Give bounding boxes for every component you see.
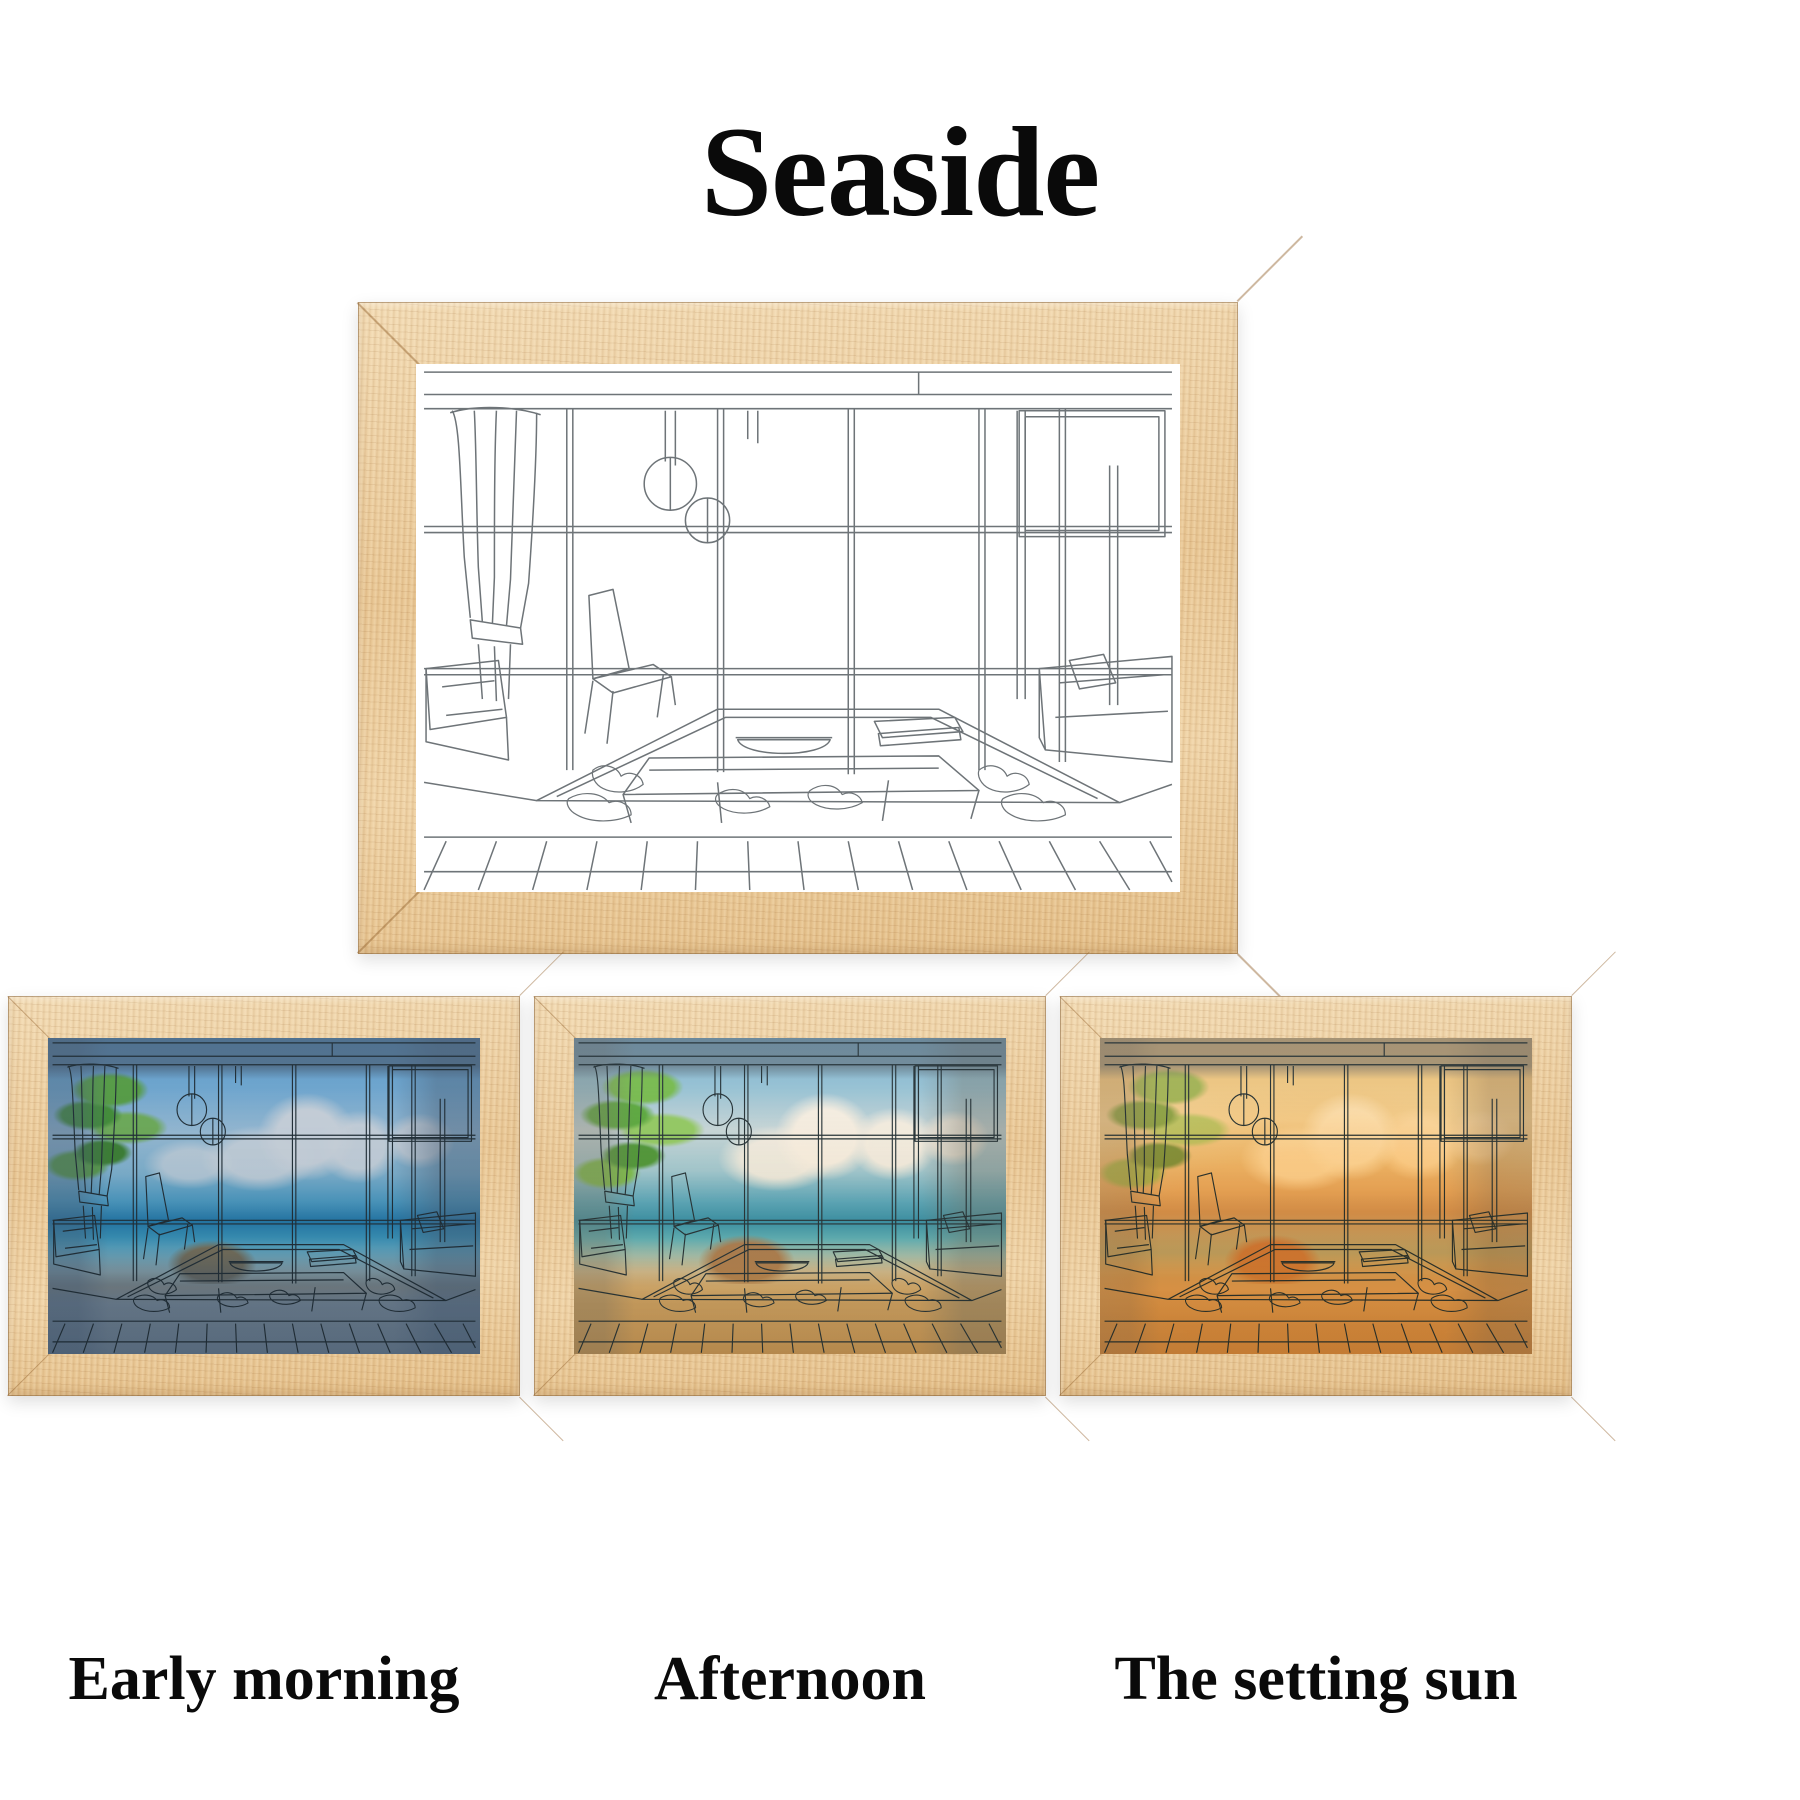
sunset-light-tint <box>1100 1038 1532 1354</box>
cool-light-tint <box>48 1038 480 1354</box>
caption-setting-sun: The setting sun <box>1060 1648 1572 1710</box>
variant-frame-setting-sun[interactable] <box>1060 996 1572 1396</box>
variant-frame-afternoon[interactable] <box>534 996 1046 1396</box>
artwork-window <box>574 1038 1006 1354</box>
caption-early-morning: Early morning <box>8 1648 520 1710</box>
main-framed-artwork <box>358 302 1238 954</box>
caption-afternoon: Afternoon <box>534 1648 1046 1710</box>
product-listing-image: Seaside <box>0 0 1800 1800</box>
artwork-window <box>48 1038 480 1354</box>
warm-light-tint <box>574 1038 1006 1354</box>
variant-frame-early-morning[interactable] <box>8 996 520 1396</box>
line-art-layer <box>416 364 1180 892</box>
artwork-window <box>416 364 1180 892</box>
page-title: Seaside <box>0 108 1800 236</box>
artwork-window <box>1100 1038 1532 1354</box>
